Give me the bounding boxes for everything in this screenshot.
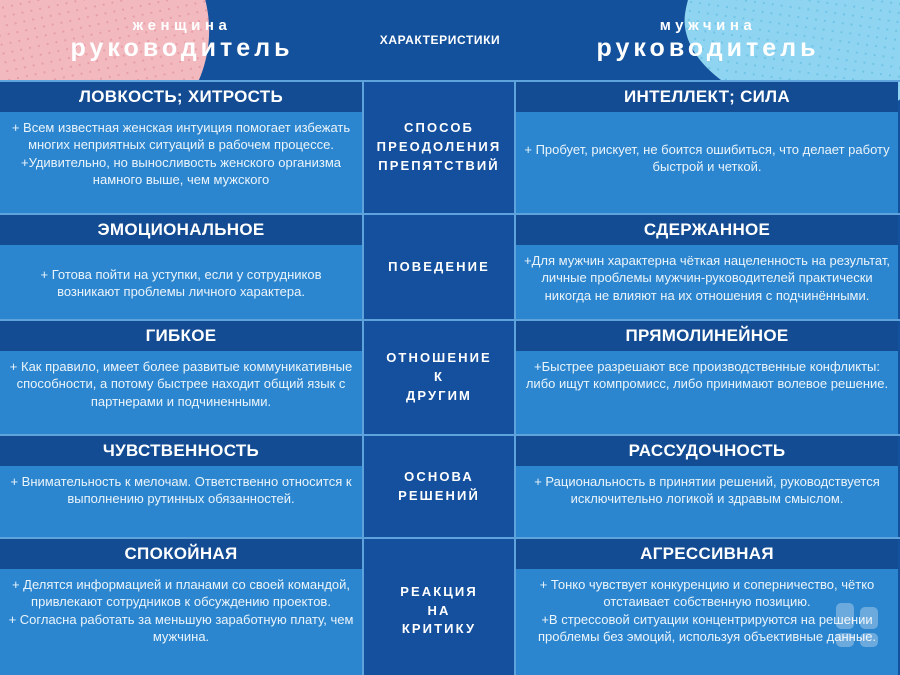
row-4-criterion-label: РЕАКЦИЯ НА КРИТИКУ [400, 583, 478, 640]
row-1-man-title: СДЕРЖАННОЕ [516, 215, 898, 245]
row-0-man-title: ИНТЕЛЛЕКТ; СИЛА [516, 82, 898, 112]
header-woman-line1: женщина [71, 18, 294, 33]
row-4-criterion-line-1: НА [400, 602, 478, 621]
row-0-woman-title: ЛОВКОСТЬ; ХИТРОСТЬ [0, 82, 362, 112]
row-0-woman-point-0: + Всем известная женская интуиция помога… [8, 119, 354, 154]
row-4-criterion-line-2: КРИТИКУ [400, 620, 478, 639]
row-2-man-point-0: +Быстрее разрешают все производственные … [524, 358, 890, 393]
row-2-man-body: +Быстрее разрешают все производственные … [516, 351, 898, 434]
row-2-woman-title: ГИБКОЕ [0, 321, 362, 351]
row-3-woman-title: ЧУВСТВЕННОСТЬ [0, 436, 362, 466]
row-0-man-body: + Пробует, рискует, не боится ошибиться,… [516, 112, 898, 213]
row-1-man-body: +Для мужчин характерна чёткая нацеленнос… [516, 245, 898, 319]
row-0-criterion-line-0: СПОСОБ [377, 119, 502, 138]
row-4-woman-point-0: + Делятся информацией и планами со своей… [8, 576, 354, 611]
row-4-criterion-line-0: РЕАКЦИЯ [400, 583, 478, 602]
row-3-man-point-0: + Рациональность в принятии решений, рук… [524, 473, 890, 508]
row-3-woman-cell: ЧУВСТВЕННОСТЬ + Внимательность к мелочам… [0, 436, 364, 537]
row-4-woman-body: + Делятся информацией и планами со своей… [0, 569, 362, 675]
row-4-man-point-1: +В стрессовой ситуации концентрируются н… [524, 611, 890, 646]
row-4-woman-point-1: + Согласна работать за меньшую заработну… [8, 611, 354, 646]
row-2-woman-cell: ГИБКОЕ + Как правило, имеет более развит… [0, 321, 364, 434]
row-4-woman-cell: СПОКОЙНАЯ + Делятся информацией и планам… [0, 539, 364, 675]
table-header: женщина руководитель ХАРАКТЕРИСТИКИ мужч… [0, 0, 900, 80]
row-0-criterion-line-2: ПРЕПЯТСТВИЙ [377, 157, 502, 176]
row-2-man-title: ПРЯМОЛИНЕЙНОЕ [516, 321, 898, 351]
row-2-woman-body: + Как правило, имеет более развитые комм… [0, 351, 362, 434]
row-1-woman-cell: ЭМОЦИОНАЛЬНОЕ + Готова пойти на уступки,… [0, 215, 364, 319]
row-4-man-cell: АГРЕССИВНАЯ + Тонко чувствует конкуренци… [516, 539, 898, 675]
row-4-man-title: АГРЕССИВНАЯ [516, 539, 898, 569]
row-0-criterion-line-1: ПРЕОДОЛЕНИЯ [377, 138, 502, 157]
row-1-woman-body: + Готова пойти на уступки, если у сотруд… [0, 245, 362, 319]
header-column-criteria: ХАРАКТЕРИСТИКИ [364, 0, 516, 80]
header-column-man: мужчина руководитель [516, 0, 900, 80]
header-man-line1: мужчина [597, 18, 820, 33]
header-criteria-label: ХАРАКТЕРИСТИКИ [380, 33, 501, 47]
row-2-criterion-line-1: К [386, 368, 492, 387]
row-2-man-cell: ПРЯМОЛИНЕЙНОЕ +Быстрее разрешают все про… [516, 321, 898, 434]
row-1-woman-point-0: + Готова пойти на уступки, если у сотруд… [8, 266, 354, 301]
table-row: ЧУВСТВЕННОСТЬ + Внимательность к мелочам… [0, 434, 900, 537]
header-column-woman: женщина руководитель [0, 0, 364, 80]
row-4-man-body: + Тонко чувствует конкуренцию и сопернич… [516, 569, 898, 675]
row-3-woman-body: + Внимательность к мелочам. Ответственно… [0, 466, 362, 537]
row-2-criterion-line-2: ДРУГИМ [386, 387, 492, 406]
header-man-line2: руководитель [597, 36, 820, 62]
row-1-criterion-cell: ПОВЕДЕНИЕ [364, 215, 516, 319]
row-3-criterion-line-1: РЕШЕНИЙ [398, 487, 480, 506]
row-0-criterion-label: СПОСОБ ПРЕОДОЛЕНИЯ ПРЕПЯТСТВИЙ [377, 119, 502, 176]
row-0-man-point-0: + Пробует, рискует, не боится ошибиться,… [524, 141, 890, 176]
row-4-man-point-0: + Тонко чувствует конкуренцию и сопернич… [524, 576, 890, 611]
table-row: ГИБКОЕ + Как правило, имеет более развит… [0, 319, 900, 434]
row-2-woman-point-0: + Как правило, имеет более развитые комм… [8, 358, 354, 410]
row-0-woman-cell: ЛОВКОСТЬ; ХИТРОСТЬ + Всем известная женс… [0, 82, 364, 213]
row-1-woman-title: ЭМОЦИОНАЛЬНОЕ [0, 215, 362, 245]
table-row: ЭМОЦИОНАЛЬНОЕ + Готова пойти на уступки,… [0, 213, 900, 319]
row-3-criterion-line-0: ОСНОВА [398, 468, 480, 487]
row-0-man-cell: ИНТЕЛЛЕКТ; СИЛА + Пробует, рискует, не б… [516, 82, 898, 213]
row-0-woman-body: + Всем известная женская интуиция помога… [0, 112, 362, 213]
row-3-criterion-label: ОСНОВА РЕШЕНИЙ [398, 468, 480, 506]
comparison-grid: ЛОВКОСТЬ; ХИТРОСТЬ + Всем известная женс… [0, 80, 900, 675]
row-3-man-title: РАССУДОЧНОСТЬ [516, 436, 898, 466]
row-3-criterion-cell: ОСНОВА РЕШЕНИЙ [364, 436, 516, 537]
header-woman-line2: руководитель [71, 36, 294, 62]
row-3-man-cell: РАССУДОЧНОСТЬ + Рациональность в приняти… [516, 436, 898, 537]
row-1-criterion-label: ПОВЕДЕНИЕ [388, 258, 490, 277]
row-2-criterion-cell: ОТНОШЕНИЕ К ДРУГИМ [364, 321, 516, 434]
row-3-woman-point-0: + Внимательность к мелочам. Ответственно… [8, 473, 354, 508]
row-2-criterion-line-0: ОТНОШЕНИЕ [386, 349, 492, 368]
row-0-criterion-cell: СПОСОБ ПРЕОДОЛЕНИЯ ПРЕПЯТСТВИЙ [364, 82, 516, 213]
row-4-woman-title: СПОКОЙНАЯ [0, 539, 362, 569]
row-0-woman-point-1: +Удивительно, но выносливость женского о… [8, 154, 354, 189]
comparison-infographic: женщина руководитель ХАРАКТЕРИСТИКИ мужч… [0, 0, 900, 675]
row-4-criterion-cell: РЕАКЦИЯ НА КРИТИКУ [364, 539, 516, 675]
row-1-criterion-line-0: ПОВЕДЕНИЕ [388, 258, 490, 277]
row-2-criterion-label: ОТНОШЕНИЕ К ДРУГИМ [386, 349, 492, 406]
row-3-man-body: + Рациональность в принятии решений, рук… [516, 466, 898, 537]
row-1-man-cell: СДЕРЖАННОЕ +Для мужчин характерна чёткая… [516, 215, 898, 319]
row-1-man-point-0: +Для мужчин характерна чёткая нацеленнос… [524, 252, 890, 304]
table-row: ЛОВКОСТЬ; ХИТРОСТЬ + Всем известная женс… [0, 80, 900, 213]
table-row: СПОКОЙНАЯ + Делятся информацией и планам… [0, 537, 900, 675]
